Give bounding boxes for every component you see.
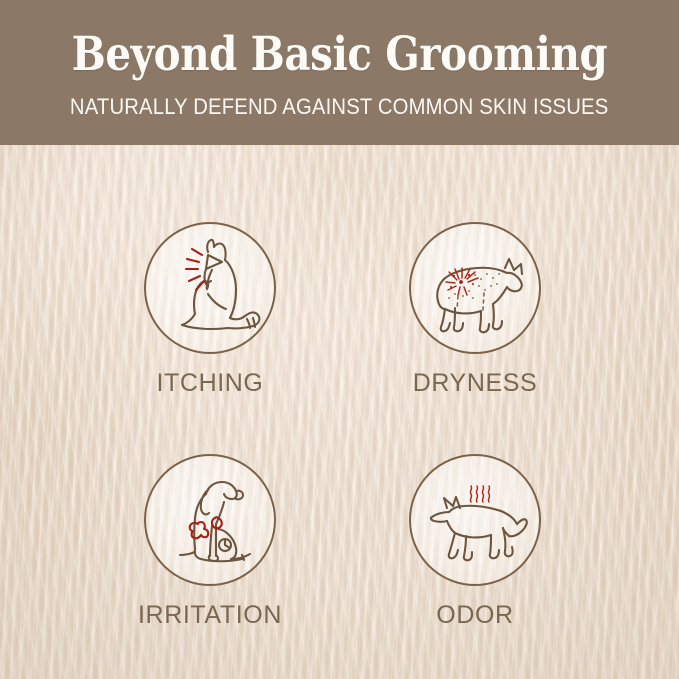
header-banner: Beyond Basic Grooming NATURALLY DEFEND A… xyxy=(0,0,679,145)
benefit-item-irritation: IRRITATION xyxy=(105,454,315,628)
dog-scratching-ear-icon xyxy=(144,222,276,354)
benefit-label-irritation: IRRITATION xyxy=(105,603,315,628)
benefit-label-itching: ITCHING xyxy=(105,371,315,396)
benefit-grid: ITCHING xyxy=(0,145,679,679)
dog-odor-waves-icon xyxy=(409,454,541,586)
page-title: Beyond Basic Grooming xyxy=(72,31,608,78)
dog-irritated-skin-patch-icon xyxy=(144,454,276,586)
benefit-item-odor: ODOR xyxy=(370,454,580,628)
benefit-label-dryness: DRYNESS xyxy=(370,371,580,396)
page-subtitle: NATURALLY DEFEND AGAINST COMMON SKIN ISS… xyxy=(70,96,608,119)
benefit-label-odor: ODOR xyxy=(370,603,580,628)
benefit-item-dryness: DRYNESS xyxy=(370,222,580,396)
dog-dry-flaky-skin-icon xyxy=(409,222,541,354)
infographic-root: Beyond Basic Grooming NATURALLY DEFEND A… xyxy=(0,0,679,679)
benefit-item-itching: ITCHING xyxy=(105,222,315,396)
